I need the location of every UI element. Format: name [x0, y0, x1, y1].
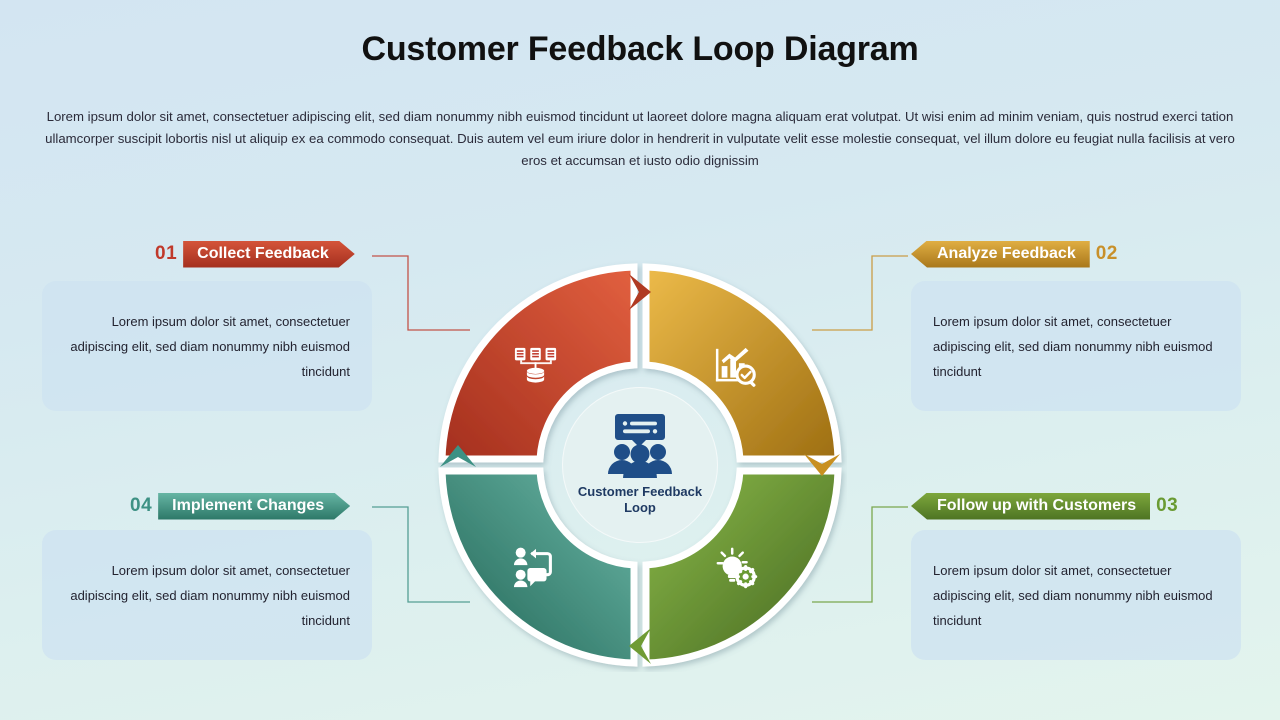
chart-magnifier-icon: [714, 345, 760, 391]
step-description-02: Lorem ipsum dolor sit amet, consectetuer…: [911, 281, 1241, 411]
step-label-01[interactable]: 01 Collect Feedback: [155, 240, 355, 268]
step-number-01: 01: [155, 243, 177, 265]
step-title-03: Follow up with Customers: [911, 493, 1150, 520]
step-description-03: Lorem ipsum dolor sit amet, consectetuer…: [911, 530, 1241, 660]
step-description-04: Lorem ipsum dolor sit amet, consectetuer…: [42, 530, 372, 660]
step-title-04: Implement Changes: [158, 493, 350, 520]
lightbulb-gear-icon: [714, 545, 760, 591]
step-title-02: Analyze Feedback: [911, 241, 1090, 268]
step-description-01: Lorem ipsum dolor sit amet, consectetuer…: [42, 281, 372, 411]
step-label-04[interactable]: 04 Implement Changes: [130, 492, 350, 520]
step-number-02: 02: [1096, 243, 1118, 265]
customer-reply-icon: [513, 545, 559, 591]
step-label-03[interactable]: Follow up with Customers 03: [911, 492, 1178, 520]
step-number-04: 04: [130, 495, 152, 517]
step-number-03: 03: [1156, 495, 1178, 517]
hub-label: Customer Feedback Loop: [570, 484, 710, 516]
step-title-01: Collect Feedback: [183, 241, 355, 268]
people-speech-bubble-icon: [602, 414, 678, 478]
hub-center: Customer Feedback Loop: [562, 387, 718, 543]
database-servers-icon: [513, 345, 559, 391]
step-label-02[interactable]: Analyze Feedback 02: [911, 240, 1118, 268]
